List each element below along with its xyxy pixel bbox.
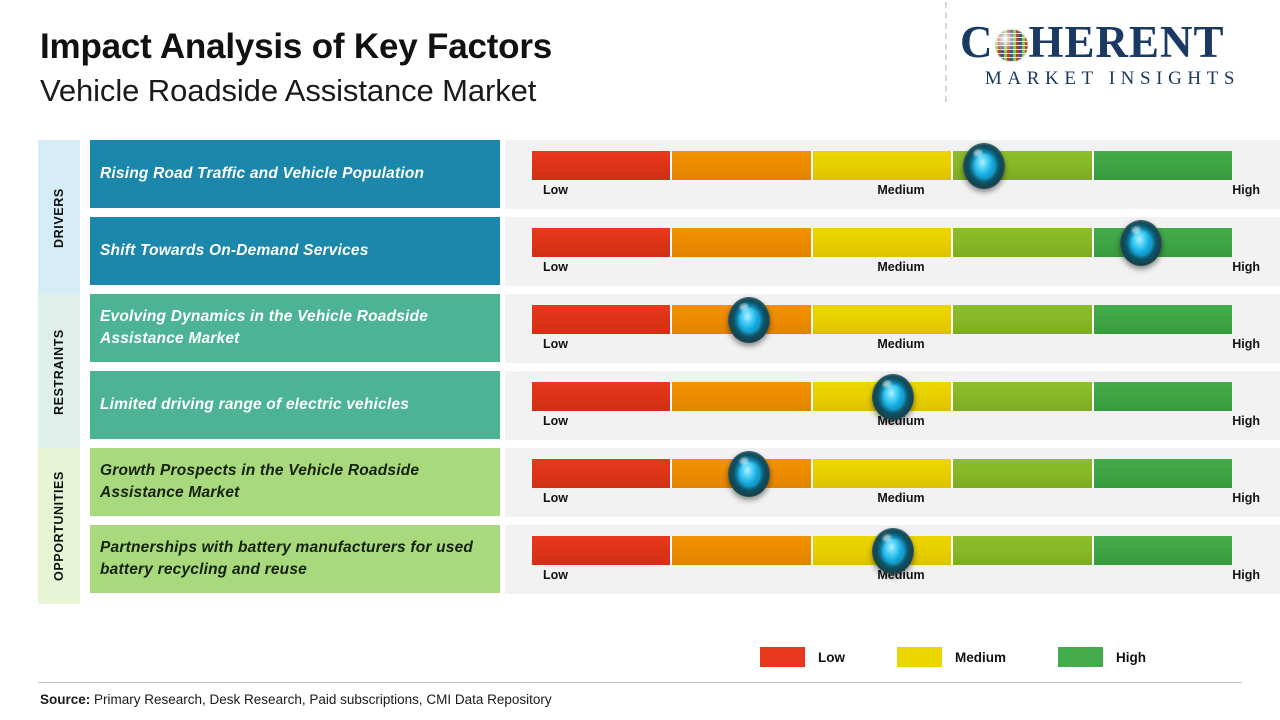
impact-gauge[interactable]: Low Medium High [505,525,1280,594]
header-divider [945,2,947,102]
gauge-segment-high [1092,459,1232,488]
legend-item-low: Low [760,647,845,667]
gauge-bar [532,459,1232,488]
gauge-segment-low [532,151,670,180]
slide-header: Impact Analysis of Key Factors Vehicle R… [0,0,1280,128]
chart-legend: Low Medium High [760,645,1200,669]
gauge-segment-medium [811,151,951,180]
category-label-restraints: RESTRAINTS [38,294,80,450]
impact-marker[interactable] [728,297,770,343]
gauge-segment-medium-high [951,228,1091,257]
logo-wordmark-rest: HERENT [1029,20,1225,65]
gauge-segment-high [1092,151,1232,180]
category-group-drivers: DRIVERS Rising Road Traffic and Vehicle … [0,140,1280,286]
globe-icon [995,29,1028,62]
impact-marker[interactable] [872,528,914,574]
legend-label-low: Low [818,650,845,665]
scale-label-low: Low [543,568,568,582]
gauge-segment-high [1092,305,1232,334]
legend-swatch-medium [897,647,942,667]
page-title: Impact Analysis of Key Factors [40,28,552,67]
gauge-segment-low-medium [670,382,810,411]
gauge-segment-medium-high [951,382,1091,411]
factor-label: Partnerships with battery manufacturers … [90,525,500,593]
scale-label-high: High [1232,337,1260,351]
factor-row[interactable]: Growth Prospects in the Vehicle Roadside… [90,448,1280,517]
scale-label-low: Low [543,414,568,428]
scale-label-medium: Medium [877,260,924,274]
gauge-segment-medium-high [951,459,1091,488]
gauge-segment-low [532,228,670,257]
factor-row[interactable]: Partnerships with battery manufacturers … [90,525,1280,594]
gauge-segment-low [532,382,670,411]
gauge-scale: Low Medium High [532,568,1270,594]
scale-label-high: High [1232,414,1260,428]
impact-marker[interactable] [963,143,1005,189]
gauge-bar [532,305,1232,334]
gauge-bar [532,382,1232,411]
rows-drivers: Rising Road Traffic and Vehicle Populati… [90,140,1280,286]
scale-label-low: Low [543,491,568,505]
gauge-segment-low-medium [670,151,810,180]
factor-label: Limited driving range of electric vehicl… [90,371,500,439]
scale-label-low: Low [543,337,568,351]
gauge-segment-medium [811,228,951,257]
scale-label-medium: Medium [877,183,924,197]
scale-label-medium: Medium [877,491,924,505]
legend-swatch-high [1058,647,1103,667]
gauge-segment-high [1092,536,1232,565]
gauge-segment-medium-high [951,305,1091,334]
factor-label: Evolving Dynamics in the Vehicle Roadsid… [90,294,500,362]
source-label: Source: [40,692,90,707]
title-block: Impact Analysis of Key Factors Vehicle R… [40,28,552,108]
factor-row[interactable]: Shift Towards On-Demand Services Low [90,217,1280,286]
gauge-segment-low-medium [670,536,810,565]
gauge-segment-high [1092,382,1232,411]
source-text: Primary Research, Desk Research, Paid su… [90,692,551,707]
impact-gauge[interactable]: Low Medium High [505,371,1280,440]
logo-letter-c: C [960,20,994,65]
gauge-segment-low [532,536,670,565]
scale-label-high: High [1232,568,1260,582]
scale-label-low: Low [543,260,568,274]
impact-gauge[interactable]: Low Medium High [505,294,1280,363]
impact-gauge[interactable]: Low Medium High [505,140,1280,209]
impact-matrix: DRIVERS Rising Road Traffic and Vehicle … [0,140,1280,594]
impact-gauge[interactable]: Low Medium High [505,217,1280,286]
gauge-segment-low [532,459,670,488]
legend-swatch-low [760,647,805,667]
scale-label-high: High [1232,183,1260,197]
factor-label: Growth Prospects in the Vehicle Roadside… [90,448,500,516]
rows-restraints: Evolving Dynamics in the Vehicle Roadsid… [90,294,1280,440]
factor-label: Shift Towards On-Demand Services [90,217,500,285]
logo-tagline: MARKET INSIGHTS [960,68,1265,90]
rows-opportunities: Growth Prospects in the Vehicle Roadside… [90,448,1280,594]
impact-marker[interactable] [1120,220,1162,266]
factor-row[interactable]: Evolving Dynamics in the Vehicle Roadsid… [90,294,1280,363]
impact-marker[interactable] [872,374,914,420]
category-label-opportunities: OPPORTUNITIES [38,448,80,604]
gauge-scale: Low Medium High [532,414,1270,440]
logo-wordmark: C HERENT [960,18,1265,66]
gauge-segment-medium [811,459,951,488]
gauge-bar [532,151,1232,180]
legend-label-medium: Medium [955,650,1006,665]
gauge-bar [532,536,1232,565]
source-line: Source: Primary Research, Desk Research,… [40,692,552,707]
factor-row[interactable]: Rising Road Traffic and Vehicle Populati… [90,140,1280,209]
gauge-segment-medium [811,305,951,334]
gauge-segment-low-medium [670,228,810,257]
gauge-scale: Low Medium High [532,260,1270,286]
scale-label-low: Low [543,183,568,197]
scale-label-high: High [1232,260,1260,274]
gauge-segment-medium-high [951,536,1091,565]
category-group-opportunities: OPPORTUNITIES Growth Prospects in the Ve… [0,448,1280,594]
legend-item-high: High [1058,647,1146,667]
slide-root: Impact Analysis of Key Factors Vehicle R… [0,0,1280,720]
legend-label-high: High [1116,650,1146,665]
gauge-scale: Low Medium High [532,337,1270,363]
category-label-drivers: DRIVERS [38,140,80,296]
scale-label-medium: Medium [877,337,924,351]
gauge-bar [532,228,1232,257]
factor-label: Rising Road Traffic and Vehicle Populati… [90,140,500,208]
company-logo: C HERENT MARKET INSIGHTS [960,18,1265,96]
legend-item-medium: Medium [897,647,1006,667]
impact-gauge[interactable]: Low Medium High [505,448,1280,517]
category-group-restraints: RESTRAINTS Evolving Dynamics in the Vehi… [0,294,1280,440]
factor-row[interactable]: Limited driving range of electric vehicl… [90,371,1280,440]
scale-label-high: High [1232,491,1260,505]
gauge-scale: Low Medium High [532,491,1270,517]
impact-marker[interactable] [728,451,770,497]
gauge-segment-low [532,305,670,334]
gauge-scale: Low Medium High [532,183,1270,209]
footer-divider [38,682,1242,683]
page-subtitle: Vehicle Roadside Assistance Market [40,73,552,109]
